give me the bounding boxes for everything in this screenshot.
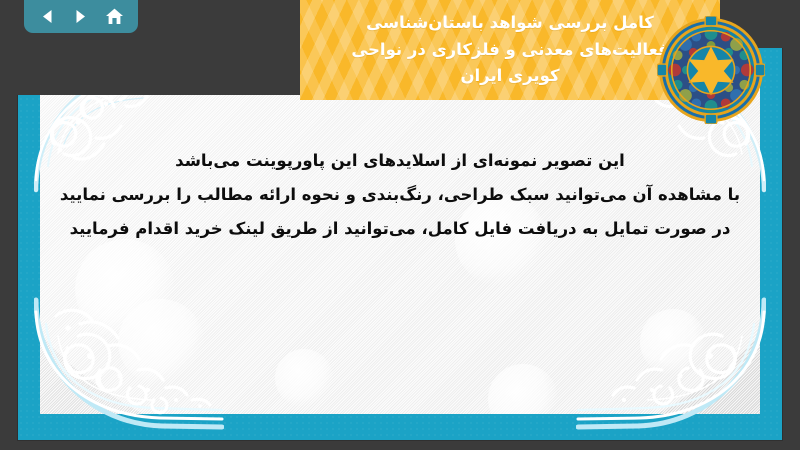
back-button[interactable]: [33, 4, 63, 30]
slide-title-banner: کامل بررسی شواهد باستان‌شناسی فعالیت‌های…: [300, 0, 720, 100]
forward-arrow-icon: [72, 8, 89, 25]
home-icon: [105, 7, 124, 26]
body-line: این تصویر نمونه‌ای از اسلایدهای این پاور…: [58, 144, 742, 178]
bokeh-circle: [275, 349, 333, 407]
forward-button[interactable]: [66, 4, 96, 30]
bokeh-circle: [75, 239, 175, 339]
body-line: با مشاهده آن می‌توانید سبک طراحی، رنگ‌بن…: [58, 178, 742, 212]
title-line: فعالیت‌های معدنی و فلزکاری در نواحی: [351, 37, 668, 64]
navigation-bar: [24, 0, 138, 33]
slide-preview-screen: این تصویر نمونه‌ای از اسلایدهای این پاور…: [0, 0, 800, 450]
bokeh-circle: [640, 309, 706, 375]
body-line: در صورت تمایل به دریافت فایل کامل، می‌تو…: [58, 212, 742, 246]
slide-body-text: این تصویر نمونه‌ای از اسلایدهای این پاور…: [58, 144, 742, 245]
bokeh-circle: [488, 364, 558, 414]
home-button[interactable]: [99, 4, 129, 30]
slide-frame: این تصویر نمونه‌ای از اسلایدهای این پاور…: [18, 48, 782, 440]
back-arrow-icon: [39, 8, 56, 25]
title-line: کویری ایران: [460, 63, 559, 90]
bokeh-circle: [118, 299, 204, 385]
title-line: کامل بررسی شواهد باستان‌شناسی: [366, 10, 654, 37]
